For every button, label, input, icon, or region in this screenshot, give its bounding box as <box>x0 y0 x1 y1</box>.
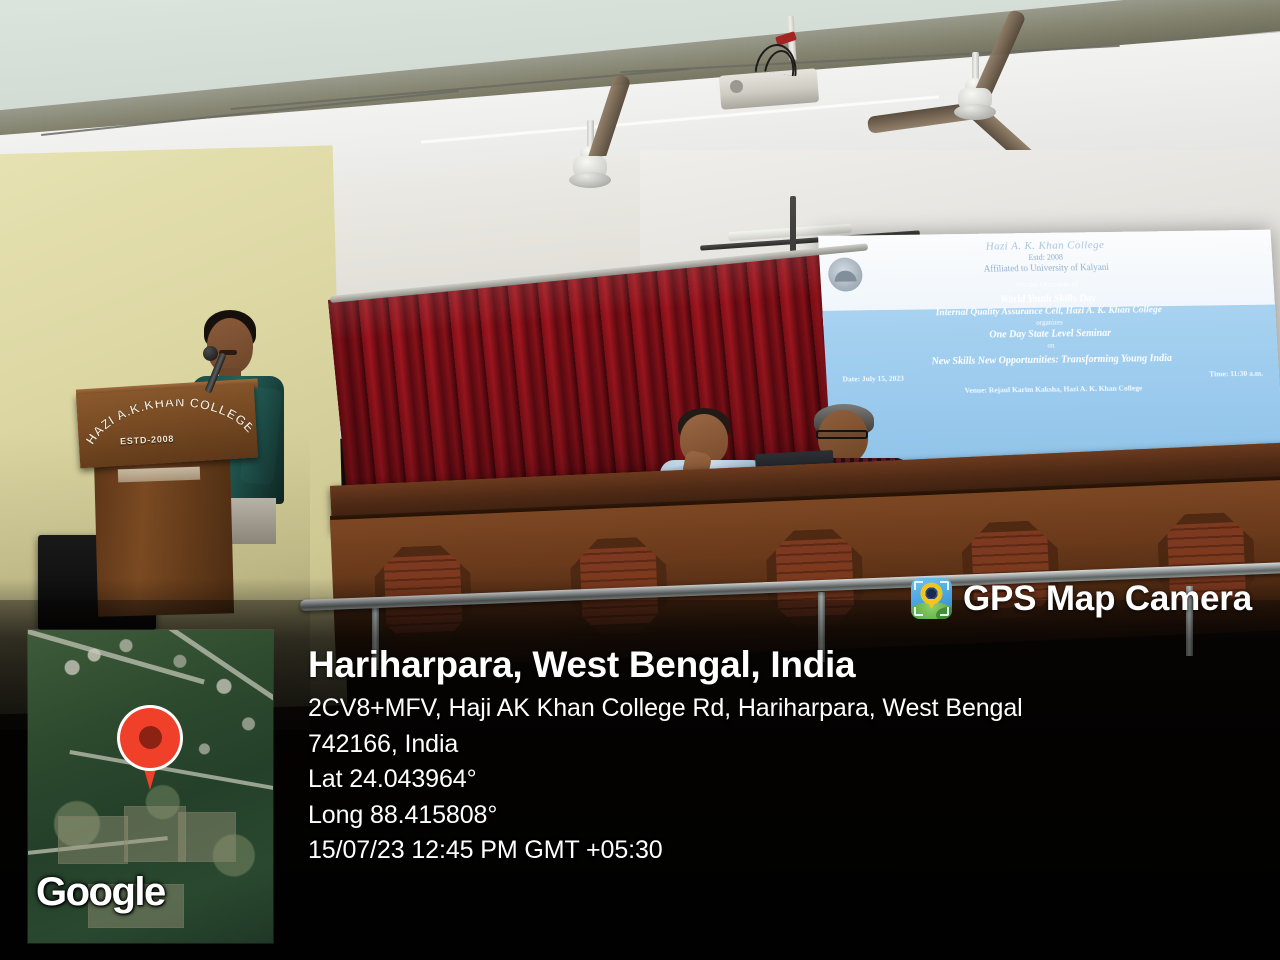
slide-venue: Venue: Rejaul Karim Kaksha, Hazi A. K. K… <box>837 382 1270 397</box>
location-title: Hariharpara, West Bengal, India <box>308 645 1258 684</box>
eyeglasses-icon <box>816 430 868 439</box>
slide-date: Date: July 15, 2023 <box>842 374 904 384</box>
latitude-value: Lat 24.043964° <box>308 762 1258 798</box>
slide-time: Time: 11:30 a.m. <box>1209 369 1263 379</box>
capture-timestamp: 15/07/23 12:45 PM GMT +05:30 <box>308 833 1258 869</box>
map-thumbnail[interactable]: Google <box>28 630 273 943</box>
google-attribution: Google <box>36 870 165 915</box>
ceiling-fan-icon <box>905 52 1045 162</box>
gps-app-name: GPS Map Camera <box>963 579 1252 619</box>
projector-lens-icon <box>730 80 743 93</box>
map-field <box>124 806 186 862</box>
map-field <box>58 816 128 864</box>
podium-front-panel <box>76 384 258 469</box>
address-line-1: 2CV8+MFV, Haji AK Khan College Rd, Harih… <box>308 691 1258 727</box>
gps-map-camera-watermark: GPS Map Camera <box>911 578 1252 619</box>
stage-decor-panel <box>765 528 865 628</box>
address-line-2: 742166, India <box>308 727 1258 763</box>
longitude-value: Long 88.415808° <box>308 798 1258 834</box>
map-pin-icon <box>120 708 180 768</box>
gps-info-block: Hariharpara, West Bengal, India 2CV8+MFV… <box>308 645 1258 869</box>
slide-occasion: On the Occasion of <box>831 277 1264 292</box>
slide-theme: New Skills New Opportunities: Transformi… <box>835 352 1268 369</box>
map-field <box>178 812 236 862</box>
gps-map-camera-icon <box>911 578 952 619</box>
microphone-icon <box>203 346 218 361</box>
photo-canvas: Hazi A. K. Khan College Estd: 2008 Affil… <box>0 0 1280 960</box>
